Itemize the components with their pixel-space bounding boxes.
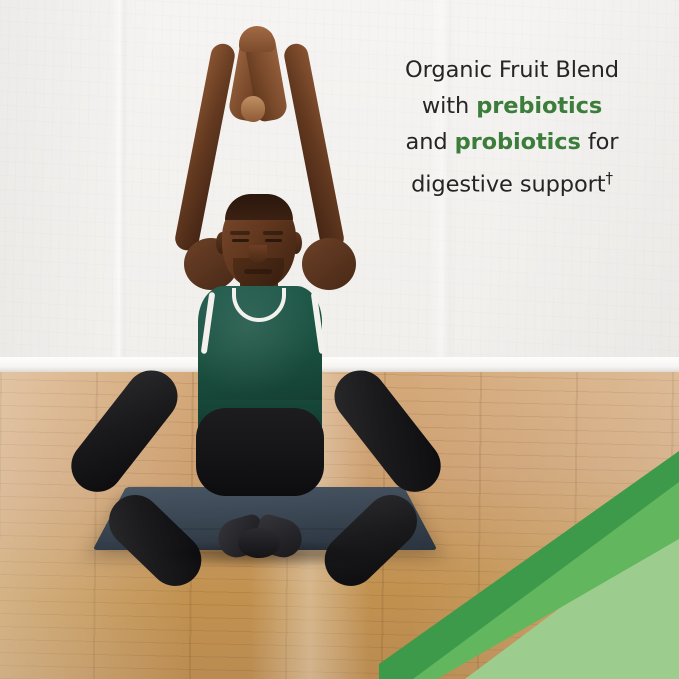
headline-accent-probiotics: probiotics — [455, 129, 581, 155]
hips — [196, 408, 324, 496]
mouth — [244, 269, 272, 274]
right-thigh — [324, 360, 451, 502]
headline-line-1-text: Organic Fruit Blend — [405, 57, 619, 83]
headline-line-4: digestive support† — [389, 160, 635, 203]
feet-soles-together — [238, 528, 280, 558]
right-shoulder — [302, 238, 356, 290]
headline-line-3-prefix: and — [406, 129, 455, 155]
right-eyebrow — [263, 231, 283, 235]
headline-accent-prebiotics: prebiotics — [476, 93, 602, 119]
hair — [225, 194, 293, 220]
left-thigh — [61, 360, 188, 502]
headline-line-4-text: digestive support — [411, 172, 605, 198]
left-eyebrow — [230, 231, 250, 235]
thumbs — [241, 96, 265, 122]
headline-text-block: Organic Fruit Blend with prebiotics and … — [389, 52, 635, 203]
nose — [249, 245, 267, 263]
headline-line-3: and probiotics for — [389, 124, 635, 160]
product-lifestyle-banner: Organic Fruit Blend with prebiotics and … — [0, 0, 679, 679]
fingertips — [239, 26, 275, 52]
right-eye-closed — [265, 239, 282, 242]
headline-line-2: with prebiotics — [389, 88, 635, 124]
headline-line-3-suffix: for — [581, 129, 619, 155]
left-eye-closed — [232, 239, 249, 242]
headline-line-2-prefix: with — [422, 93, 476, 119]
headline-line-1: Organic Fruit Blend — [389, 52, 635, 88]
dagger-footnote-icon: † — [606, 169, 613, 187]
